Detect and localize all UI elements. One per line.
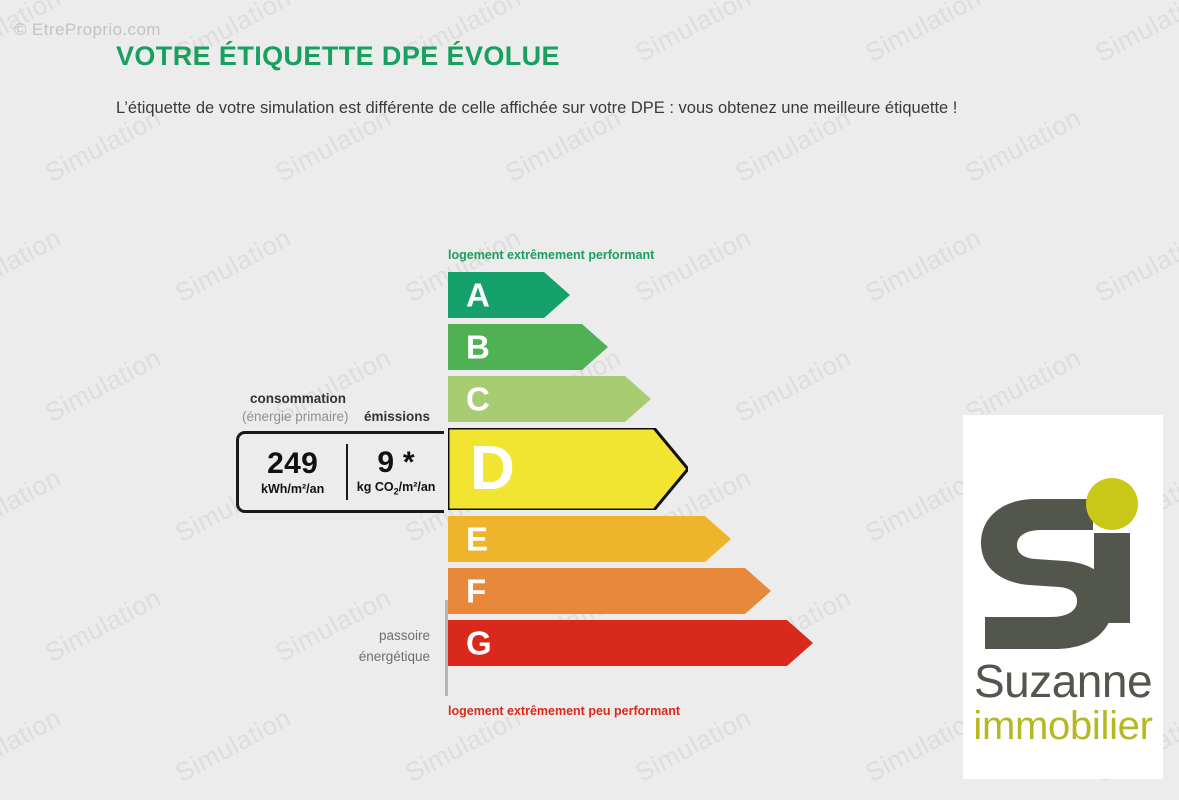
- grade-row-f: F: [448, 568, 771, 614]
- grade-arrow-e: E: [448, 516, 731, 562]
- grade-letter-b: B: [466, 331, 490, 364]
- label-emissions: émissions: [364, 409, 430, 424]
- grade-arrow-f: F: [448, 568, 771, 614]
- watermark-tile: Simulation: [0, 462, 66, 549]
- grade-letter-a: A: [466, 279, 490, 312]
- consumption-value-cell: 249 kWh/m²/an: [239, 448, 346, 496]
- grade-letter-c: C: [466, 383, 490, 416]
- grade-arrow-b: B: [448, 324, 608, 370]
- label-energie-primaire: (énergie primaire): [242, 409, 349, 424]
- consumption-value: 249: [239, 448, 346, 480]
- page-title: VOTRE ÉTIQUETTE DPE ÉVOLUE: [116, 42, 1116, 72]
- grade-row-g: G: [448, 620, 813, 666]
- consumption-unit: kWh/m²/an: [239, 483, 346, 496]
- grade-letter-f: F: [466, 575, 486, 608]
- emission-unit: kg CO2/m²/an: [348, 481, 444, 497]
- header: VOTRE ÉTIQUETTE DPE ÉVOLUE L’étiquette d…: [116, 42, 1116, 123]
- grade-arrow-d: D: [448, 428, 688, 510]
- page-subtitle: L’étiquette de votre simulation est diff…: [116, 94, 1101, 123]
- scale-caption-bottom: logement extrêmement peu performant: [448, 704, 680, 718]
- passoire-label-line2: énergétique: [359, 647, 430, 668]
- grade-arrow-a: A: [448, 272, 570, 318]
- watermark-tile: Simulation: [40, 342, 166, 429]
- grade-letter-g: G: [466, 627, 492, 660]
- dpe-value-box: 249 kWh/m²/an 9 * kg CO2/m²/an: [236, 431, 444, 513]
- logo-name-secondary: immobilier: [963, 705, 1163, 747]
- grade-letter-e: E: [466, 523, 488, 556]
- grade-letter-d: D: [470, 438, 515, 500]
- watermark-tile: Simulation: [0, 702, 66, 789]
- logo-si-mark: [963, 459, 1163, 659]
- logo-wordmark: Suzanne immobilier: [963, 658, 1163, 747]
- scale-caption-top: logement extrêmement performant: [448, 248, 654, 262]
- emission-value-cell: 9 * kg CO2/m²/an: [348, 447, 444, 497]
- grade-row-b: B: [448, 324, 608, 370]
- logo-dot: [1086, 478, 1138, 530]
- watermark-tile: Simulation: [40, 582, 166, 669]
- dpe-energy-label: logement extrêmement performant consomma…: [236, 248, 876, 728]
- passoire-label-line1: passoire: [359, 626, 430, 647]
- watermark-tile: Simulation: [1090, 222, 1179, 309]
- passoire-label: passoire énergétique: [359, 626, 430, 668]
- brand-watermark: © EtreProprio.com: [14, 20, 161, 40]
- emission-value: 9 *: [348, 447, 444, 479]
- grade-arrow-c: C: [448, 376, 651, 422]
- grade-row-e: E: [448, 516, 731, 562]
- grade-row-a: A: [448, 272, 570, 318]
- grade-arrow-g: G: [448, 620, 813, 666]
- watermark-tile: Simulation: [860, 222, 986, 309]
- label-consommation: consommation: [250, 391, 346, 406]
- agency-logo-card: Suzanne immobilier: [963, 415, 1163, 779]
- watermark-tile: Simulation: [0, 222, 66, 309]
- grade-row-c: C: [448, 376, 651, 422]
- grade-row-d: D: [448, 428, 688, 510]
- value-box-labels: consommation (énergie primaire) émission…: [236, 391, 451, 431]
- passoire-energetique-marker: passoire énergétique: [344, 600, 448, 696]
- logo-name-primary: Suzanne: [963, 658, 1163, 705]
